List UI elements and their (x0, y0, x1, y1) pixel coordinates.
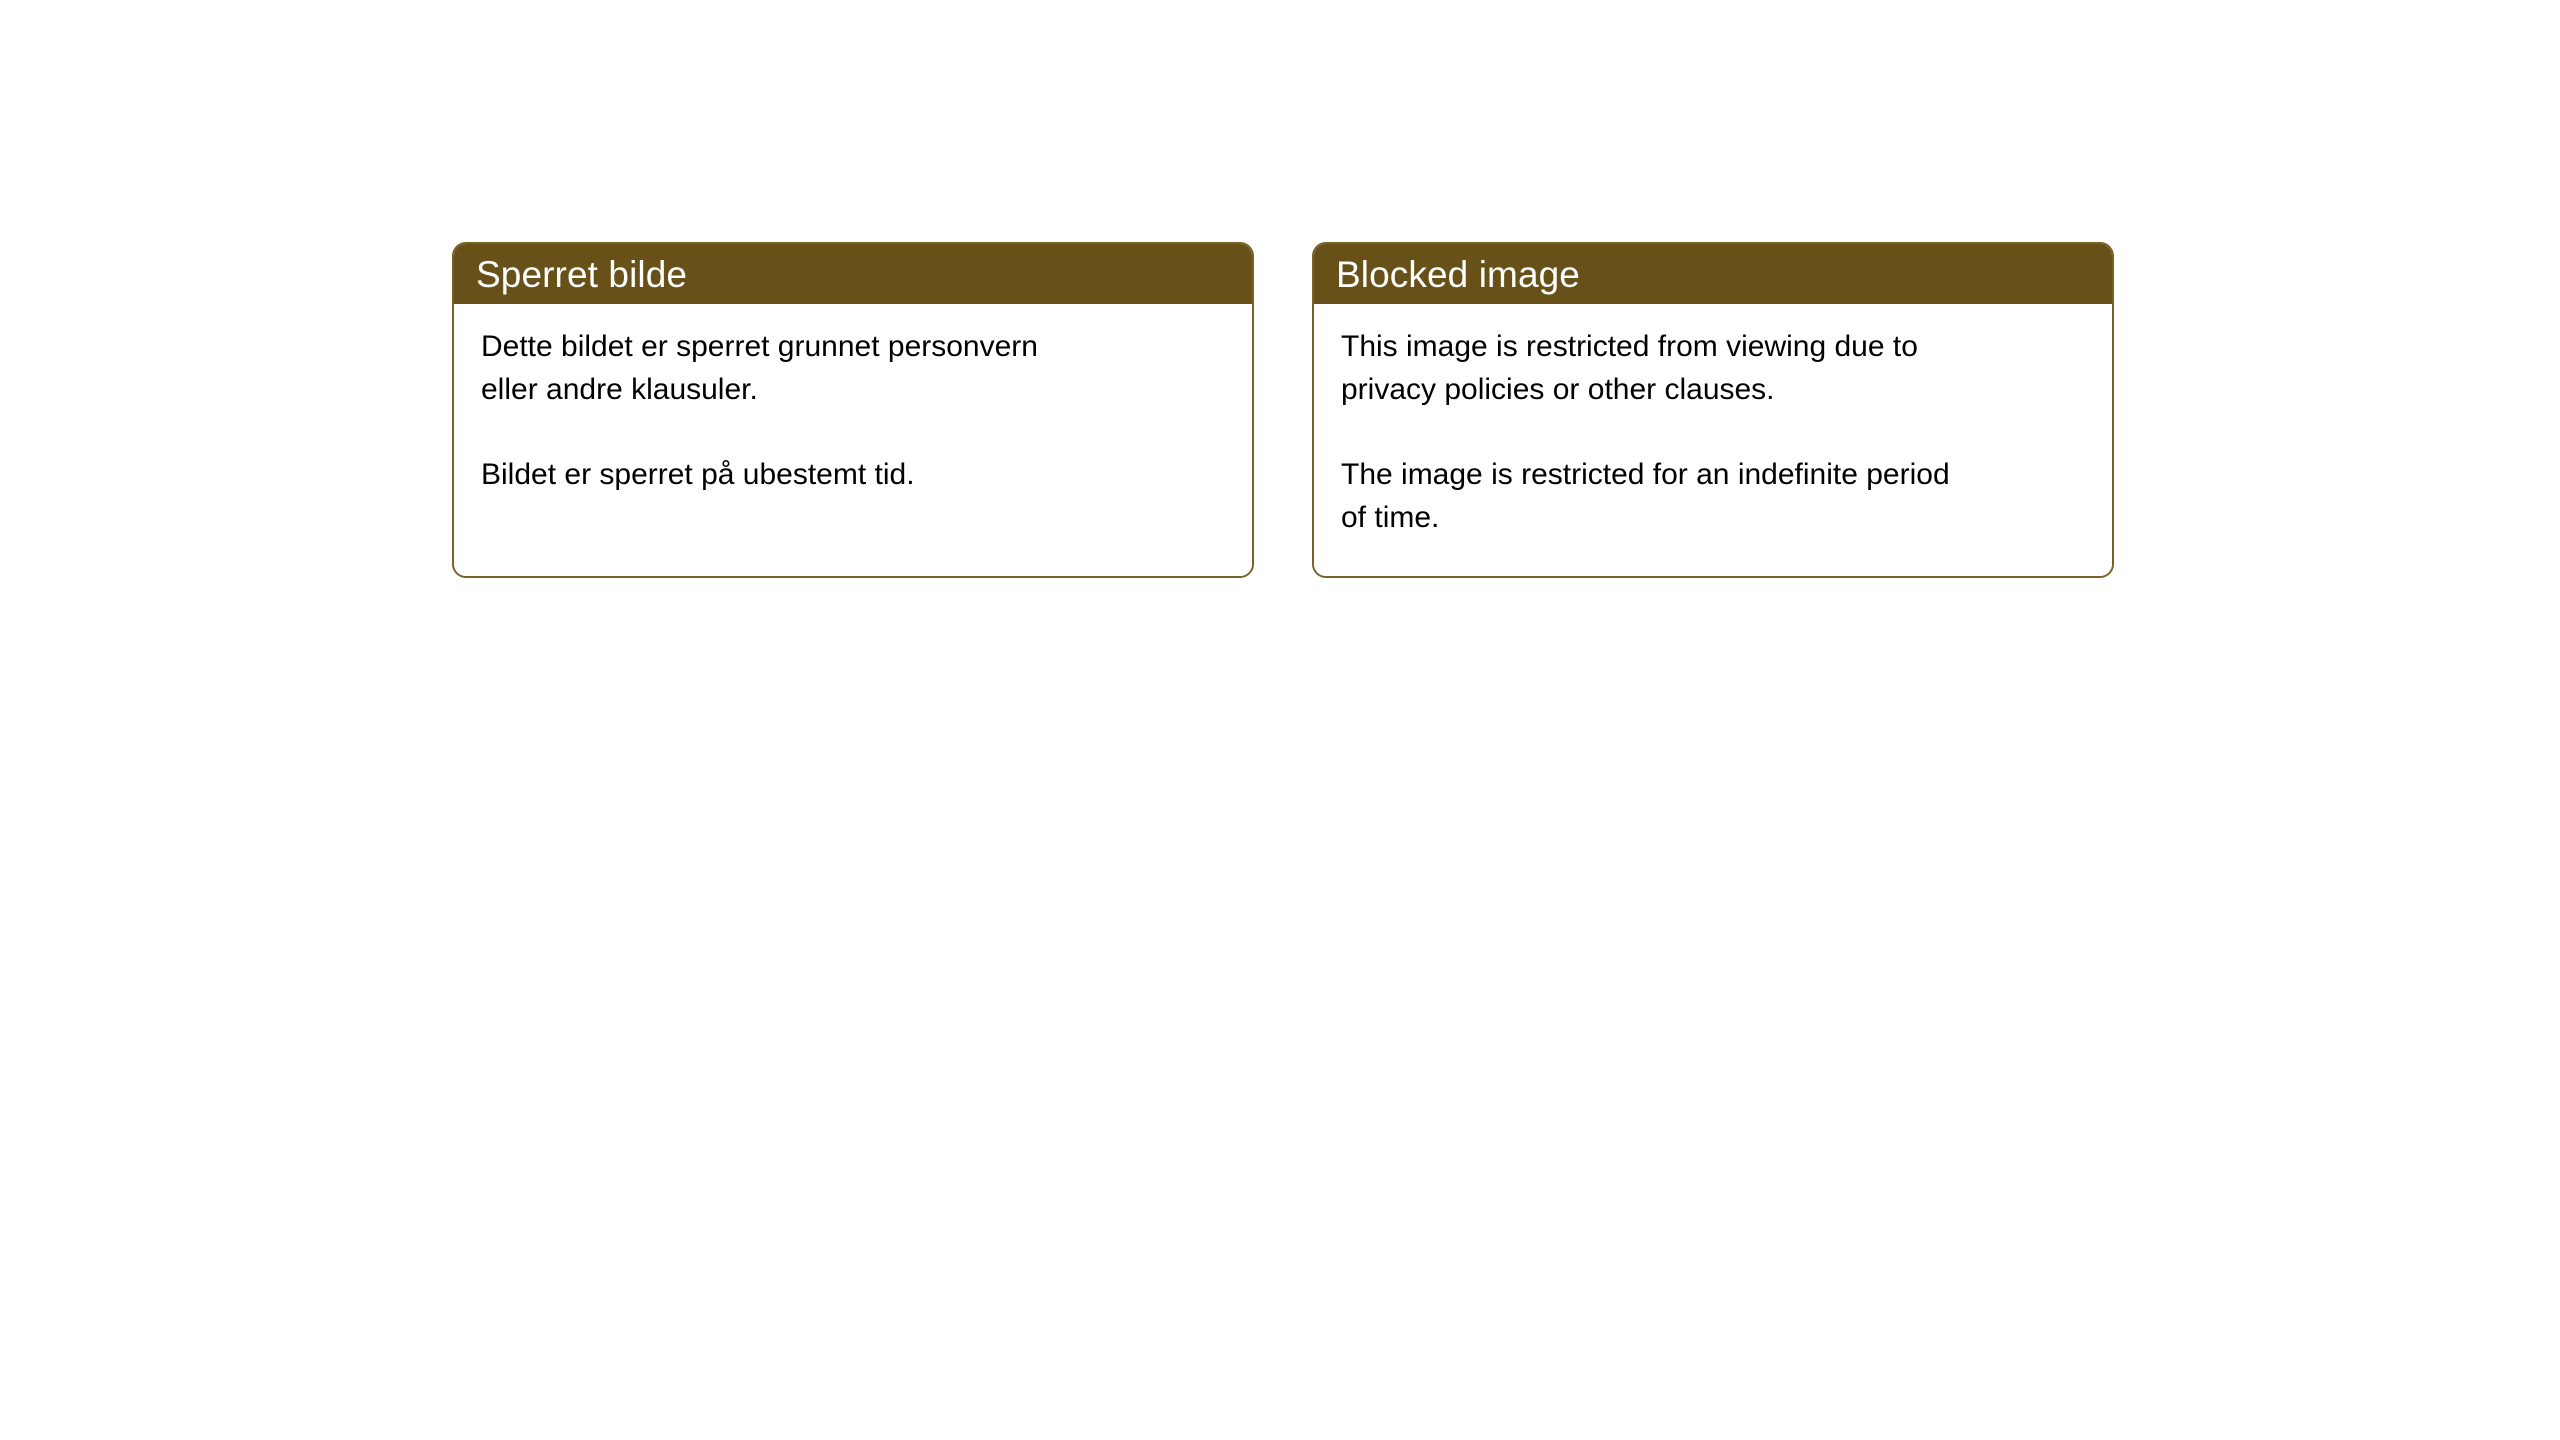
card-body-english: This image is restricted from viewing du… (1314, 304, 2112, 576)
card-paragraph-duration-norwegian: Bildet er sperret på ubestemt tid. (481, 453, 1226, 496)
card-paragraph-reason-norwegian: Dette bildet er sperret grunnet personve… (481, 325, 1226, 411)
card-title-norwegian: Sperret bilde (476, 256, 687, 293)
card-header-norwegian: Sperret bilde (454, 244, 1252, 304)
card-body-norwegian: Dette bildet er sperret grunnet personve… (454, 304, 1252, 576)
blocked-image-card-english: Blocked image This image is restricted f… (1312, 242, 2114, 578)
blocked-image-card-norwegian: Sperret bilde Dette bildet er sperret gr… (452, 242, 1254, 578)
card-title-english: Blocked image (1336, 256, 1580, 293)
card-header-english: Blocked image (1314, 244, 2112, 304)
card-paragraph-duration-english: The image is restricted for an indefinit… (1341, 453, 2086, 539)
card-paragraph-reason-english: This image is restricted from viewing du… (1341, 325, 2086, 411)
page-canvas: Sperret bilde Dette bildet er sperret gr… (0, 0, 2560, 1440)
